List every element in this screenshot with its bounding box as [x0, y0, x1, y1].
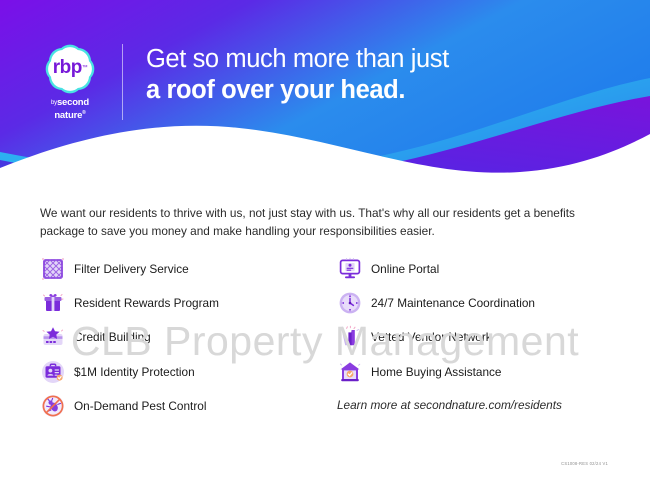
benefit-item-credit-building: Credit Building	[40, 320, 330, 354]
benefit-label: On-Demand Pest Control	[74, 399, 206, 413]
logo-brand-line2: nature	[54, 110, 82, 121]
benefits-right-column: Online Portal	[337, 252, 627, 389]
logo-rbp-text: rbp	[53, 57, 82, 79]
filter-mesh-icon	[40, 256, 66, 282]
benefit-label: Home Buying Assistance	[371, 365, 502, 379]
benefit-label: Resident Rewards Program	[74, 296, 219, 310]
benefit-label: Online Portal	[371, 262, 439, 276]
house-check-icon	[337, 359, 363, 385]
header-divider	[122, 44, 123, 120]
credit-card-star-icon	[40, 324, 66, 350]
benefit-item-pest-control: On-Demand Pest Control	[40, 389, 330, 423]
benefit-label: Credit Building	[74, 330, 151, 344]
paint-roller-tools-icon	[337, 324, 363, 350]
intro-paragraph: We want our residents to thrive with us,…	[40, 205, 605, 240]
benefit-item-maintenance: 24/7 Maintenance Coordination	[337, 286, 627, 320]
logo-trademark: ™	[82, 65, 88, 71]
benefit-item-filter-delivery: Filter Delivery Service	[40, 252, 330, 286]
benefit-item-online-portal: Online Portal	[337, 252, 627, 286]
headline-line-1: Get so much more than just	[146, 44, 606, 75]
clock-icon	[337, 290, 363, 316]
benefit-item-identity-protection: $1M Identity Protection	[40, 355, 330, 389]
headline-line-2: a roof over your head.	[146, 75, 606, 106]
logo-brand-line1: second	[57, 97, 89, 108]
benefit-label: Vetted Vendor Network	[371, 330, 492, 344]
gift-box-icon	[40, 290, 66, 316]
benefit-item-home-buying: Home Buying Assistance	[337, 355, 627, 389]
benefit-item-vendor-network: Vetted Vendor Network	[337, 320, 627, 354]
logo-registered-mark: ®	[82, 110, 85, 116]
rbp-starburst-icon: rbp™	[40, 40, 100, 98]
no-pest-icon	[40, 393, 66, 419]
id-badge-shield-icon	[40, 359, 66, 385]
benefit-item-resident-rewards: Resident Rewards Program	[40, 286, 330, 320]
brand-logo: rbp™ bysecondnature®	[32, 40, 108, 124]
benefit-label: 24/7 Maintenance Coordination	[371, 296, 535, 310]
benefits-left-column: Filter Delivery Service	[40, 252, 330, 423]
headline: Get so much more than just a roof over y…	[146, 44, 606, 106]
learn-more-text: Learn more at secondnature.com/residents	[337, 398, 627, 412]
marketing-flyer: rbp™ bysecondnature® Get so much more th…	[0, 0, 650, 488]
logo-wordmark: rbp™	[40, 40, 100, 98]
benefit-label: Filter Delivery Service	[74, 262, 189, 276]
desktop-monitor-icon	[337, 256, 363, 282]
logo-tagline: bysecondnature®	[32, 98, 108, 121]
document-code: CS1008-RES 02/24 V1	[561, 461, 608, 466]
benefit-label: $1M Identity Protection	[74, 365, 195, 379]
header-banner: rbp™ bysecondnature® Get so much more th…	[0, 0, 650, 190]
